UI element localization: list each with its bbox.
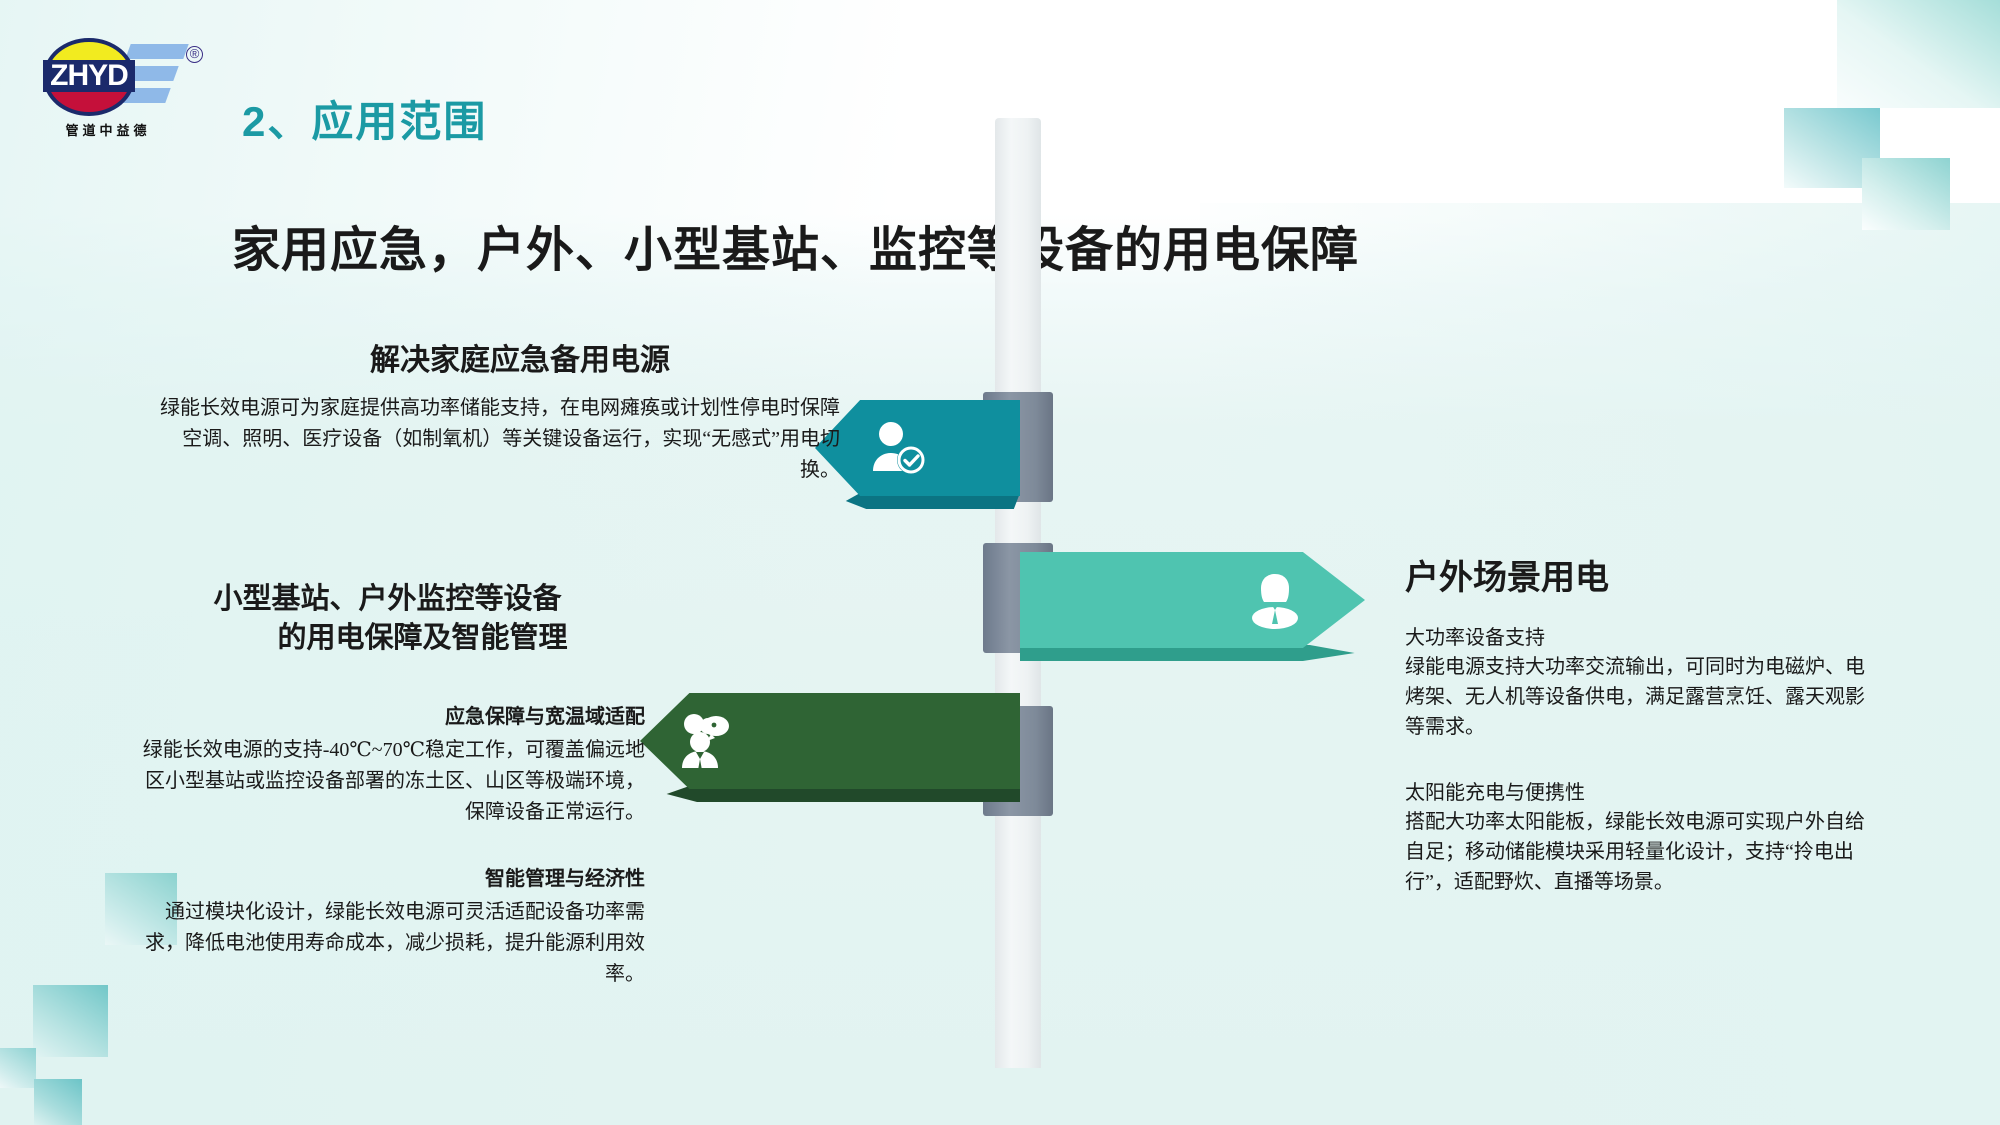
user-female-icon xyxy=(1243,571,1307,629)
sign-face xyxy=(1020,552,1365,648)
block-body: 通过模块化设计，绿能长效电源可灵活适配设备功率需求，降低电池使用寿命成本，减少损… xyxy=(140,897,645,990)
section-heading: 2、应用范围 xyxy=(242,88,487,149)
sign-home-emergency[interactable] xyxy=(815,400,1020,496)
block-subheading-2: 太阳能充电与便携性 xyxy=(1405,776,1875,805)
block-heading-line1: 小型基站、户外监控等设备 xyxy=(213,583,561,615)
block-heading: 解决家庭应急备用电源 xyxy=(150,335,670,379)
logo-wordmark: ZHYD xyxy=(43,60,135,92)
block-subheading-1: 大功率设备支持 xyxy=(1405,621,1875,650)
block-home-emergency: 解决家庭应急备用电源 绿能长效电源可为家庭提供高功率储能支持，在电网瘫痪或计划性… xyxy=(150,335,840,486)
page-title: 家用应急，户外、小型基站、监控等设备的用电保障 xyxy=(232,210,1359,280)
sign-outdoor[interactable] xyxy=(1020,552,1365,648)
block-heading: 应急保障与宽温域适配 xyxy=(140,700,645,729)
decor-square-top-right-small xyxy=(1862,158,1950,230)
block-spacer xyxy=(1405,742,1875,776)
block-smart-management: 智能管理与经济性 通过模块化设计，绿能长效电源可灵活适配设备功率需求，降低电池使… xyxy=(140,862,645,990)
block-outdoor-usage: 户外场景用电 大功率设备支持 绿能电源支持大功率交流输出，可同时为电磁炉、电烤架… xyxy=(1405,550,1875,897)
sign-base-station[interactable] xyxy=(640,693,1020,789)
block-wide-temperature: 应急保障与宽温域适配 绿能长效电源的支持-40℃~70℃稳定工作，可覆盖偏远地区… xyxy=(140,700,645,828)
block-heading-line2: 的用电保障及智能管理 xyxy=(135,619,640,658)
logo-subtitle: 管道中益德 xyxy=(38,120,178,139)
block-title: 户外场景用电 xyxy=(1405,550,1875,599)
decor-square-bottom-left-4 xyxy=(34,1079,82,1125)
block-body: 绿能长效电源可为家庭提供高功率储能支持，在电网瘫痪或计划性停电时保障空调、照明、… xyxy=(150,393,840,486)
decor-square-bottom-left-2 xyxy=(33,985,108,1057)
block-heading: 智能管理与经济性 xyxy=(140,862,645,891)
block-body-1: 绿能电源支持大功率交流输出，可同时为电磁炉、电烤架、无人机等设备供电，满足露营烹… xyxy=(1405,652,1875,742)
slide-root: ZHYD ® 管道中益德 2、应用范围 家用应急，户外、小型基站、监控等设备的用… xyxy=(0,0,2000,1125)
users-chat-icon xyxy=(678,712,742,770)
user-check-icon xyxy=(867,419,931,477)
decor-square-bottom-left-3 xyxy=(0,1048,36,1088)
decor-square-top-right-large xyxy=(1837,0,2000,108)
block-heading: 小型基站、户外监控等设备 的用电保障及智能管理 xyxy=(135,580,640,658)
block-body: 绿能长效电源的支持-40℃~70℃稳定工作，可覆盖偏远地区小型基站或监控设备部署… xyxy=(140,735,645,828)
registered-trademark-icon: ® xyxy=(186,46,203,63)
block-base-station-heading: 小型基站、户外监控等设备 的用电保障及智能管理 xyxy=(135,580,640,658)
block-body-2: 搭配大功率太阳能板，绿能长效电源可实现户外自给自足；移动储能模块采用轻量化设计，… xyxy=(1405,807,1875,897)
company-logo: ZHYD ® 管道中益德 xyxy=(38,34,208,144)
